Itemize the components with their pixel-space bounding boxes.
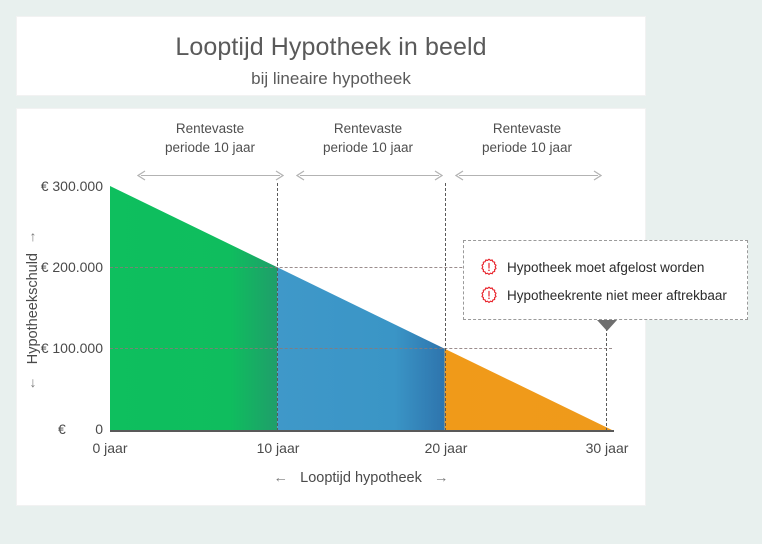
x-tick-0-jaar: 0 jaar (75, 440, 145, 456)
y-tick-100000: € 100.000 (0, 340, 103, 356)
warning-tooltip: Hypotheek moet afgelost worden Hypotheek… (463, 240, 748, 320)
period-label-3-line1: Rentevaste (452, 119, 602, 138)
bracket-bar (141, 175, 280, 176)
period-label-1-line1: Rentevaste (135, 119, 285, 138)
arrow-right-icon (593, 170, 602, 181)
bracket-bar (300, 175, 439, 176)
x-axis-left-arrow-icon: ← (274, 470, 289, 486)
x-axis-title-group: ← Looptijd hypotheek → (110, 470, 612, 486)
period-label-2-line2: periode 10 jaar (293, 138, 443, 157)
divider-year-30 (606, 328, 607, 431)
area-segment-1 (110, 186, 277, 430)
header-card: Looptijd Hypotheek in beeld bij lineaire… (16, 16, 646, 96)
x-axis-title: Looptijd hypotheek (300, 470, 422, 486)
warning-item-1: Hypotheek moet afgelost worden (480, 253, 733, 281)
y-tick-0: 0 (0, 421, 103, 437)
divider-year-10 (277, 183, 278, 431)
y-tick-200000: € 200.000 (0, 259, 103, 275)
period-label-1-line2: periode 10 jaar (135, 138, 285, 157)
x-tick-20-jaar: 20 jaar (411, 440, 481, 456)
area-segment-3 (445, 349, 612, 430)
warning-item-1-text: Hypotheek moet afgelost worden (507, 260, 704, 275)
x-axis-right-arrow-icon: → (434, 470, 449, 486)
divider-year-20 (445, 183, 446, 431)
bracket-bar (459, 175, 598, 176)
page-root: Looptijd Hypotheek in beeld bij lineaire… (0, 0, 762, 544)
period-label-3-line2: periode 10 jaar (452, 138, 602, 157)
period-label-2-line1: Rentevaste (293, 119, 443, 138)
warning-item-2-text: Hypotheekrente niet meer aftrekbaar (507, 288, 727, 303)
period-bracket-3 (455, 170, 602, 181)
warning-item-2: Hypotheekrente niet meer aftrekbaar (480, 281, 733, 309)
page-subtitle: bij lineaire hypotheek (17, 69, 645, 89)
x-tick-10-jaar: 10 jaar (243, 440, 313, 456)
warning-seal-icon (480, 258, 498, 276)
y-axis-up-arrow-icon: ↑ (30, 229, 37, 243)
x-axis-line (110, 430, 614, 432)
period-bracket-1 (137, 170, 284, 181)
x-tick-30-jaar: 30 jaar (572, 440, 642, 456)
y-axis-down-arrow-icon: ↓ (30, 375, 37, 389)
arrow-right-icon (434, 170, 443, 181)
gridline-100000 (110, 348, 612, 349)
period-label-1: Rentevaste periode 10 jaar (135, 119, 285, 157)
y-tick-300000: € 300.000 (0, 178, 103, 194)
tooltip-pointer-triangle-icon (597, 320, 617, 331)
y-axis-title-group: ↑ Hypotheekschuld ↓ (22, 190, 44, 428)
period-bracket-2 (296, 170, 443, 181)
warning-seal-icon (480, 286, 498, 304)
page-title: Looptijd Hypotheek in beeld (17, 33, 645, 62)
period-label-2: Rentevaste periode 10 jaar (293, 119, 443, 157)
arrow-right-icon (275, 170, 284, 181)
period-label-3: Rentevaste periode 10 jaar (452, 119, 602, 157)
